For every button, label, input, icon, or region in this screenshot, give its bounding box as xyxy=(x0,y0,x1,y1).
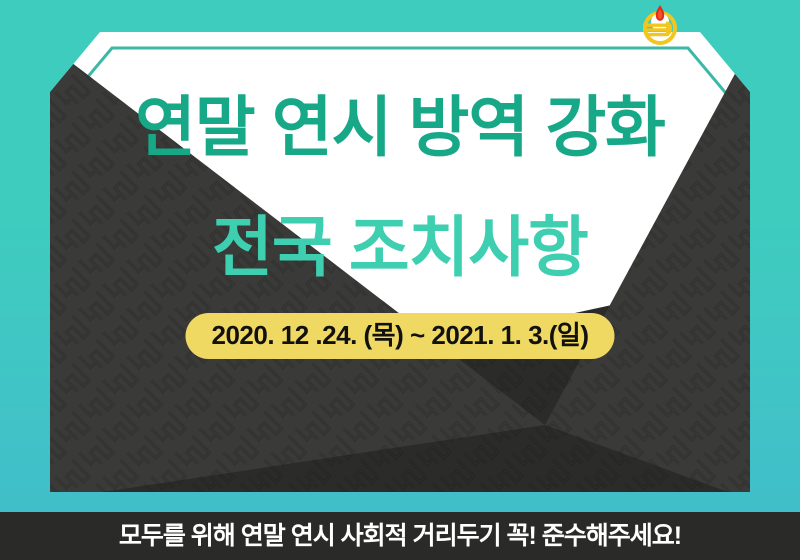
flame-hand-icon xyxy=(638,2,682,46)
bottom-banner-message: 모두를 위해 연말 연시 사회적 거리두기 꼭! 준수해주세요! xyxy=(119,524,681,549)
envelope-graphic xyxy=(0,0,800,512)
bottom-banner: 모두를 위해 연말 연시 사회적 거리두기 꼭! 준수해주세요! xyxy=(0,512,800,560)
flame-hand-emblem xyxy=(638,2,682,46)
envelope-card xyxy=(0,0,800,512)
poster-root: 연말 연시 방역 강화 전국 조치사항 2020. 12 .24. (목) ~ … xyxy=(0,0,800,560)
